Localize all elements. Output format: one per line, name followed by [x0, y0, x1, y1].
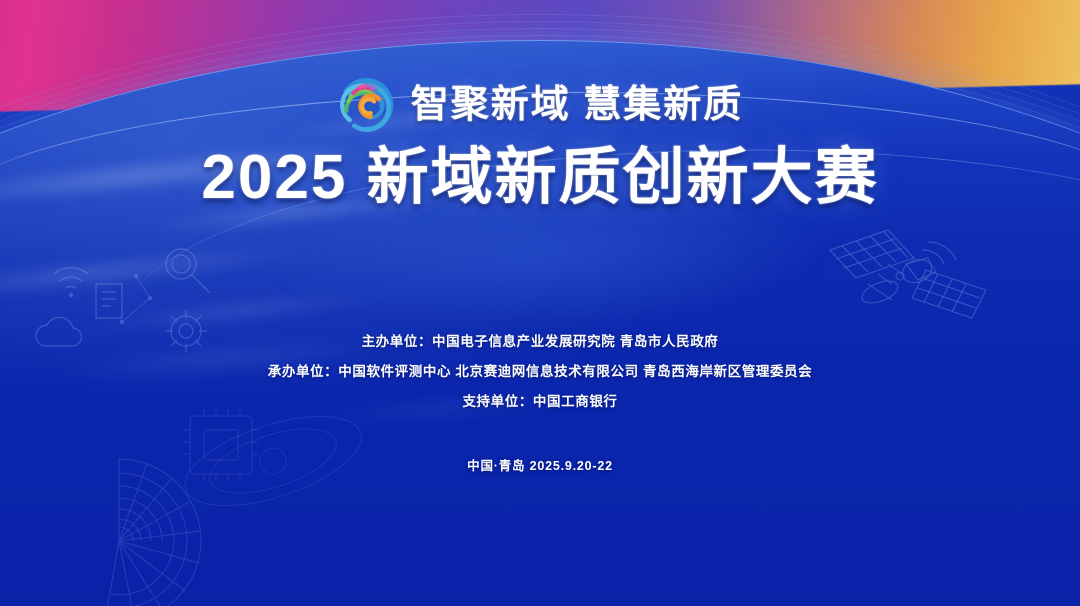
organizer-line-undertaker: 承办单位：中国软件评测中心 北京赛迪网信息技术有限公司 青岛西海岸新区管理委员会 — [268, 360, 813, 380]
venue-and-date: 中国·青岛 2025.9.20-22 — [467, 455, 613, 474]
tagline-text: 智聚新域 慧集新质 — [411, 86, 744, 124]
swirl-logo-icon — [337, 76, 395, 134]
organizer-line-host: 主办单位：中国电子信息产业发展研究院 青岛市人民政府 — [362, 330, 719, 350]
poster-content: 智聚新域 慧集新质 2025 新域新质创新大赛 主办单位：中国电子信息产业发展研… — [0, 0, 1080, 606]
event-poster: 智聚新域 慧集新质 2025 新域新质创新大赛 主办单位：中国电子信息产业发展研… — [0, 0, 1080, 606]
organizer-block: 主办单位：中国电子信息产业发展研究院 青岛市人民政府 承办单位：中国软件评测中心… — [268, 330, 813, 410]
organizer-line-supporter: 支持单位：中国工商银行 — [462, 390, 617, 410]
tagline-row: 智聚新域 慧集新质 — [337, 76, 744, 134]
page-title: 2025 新域新质创新大赛 — [201, 144, 878, 212]
